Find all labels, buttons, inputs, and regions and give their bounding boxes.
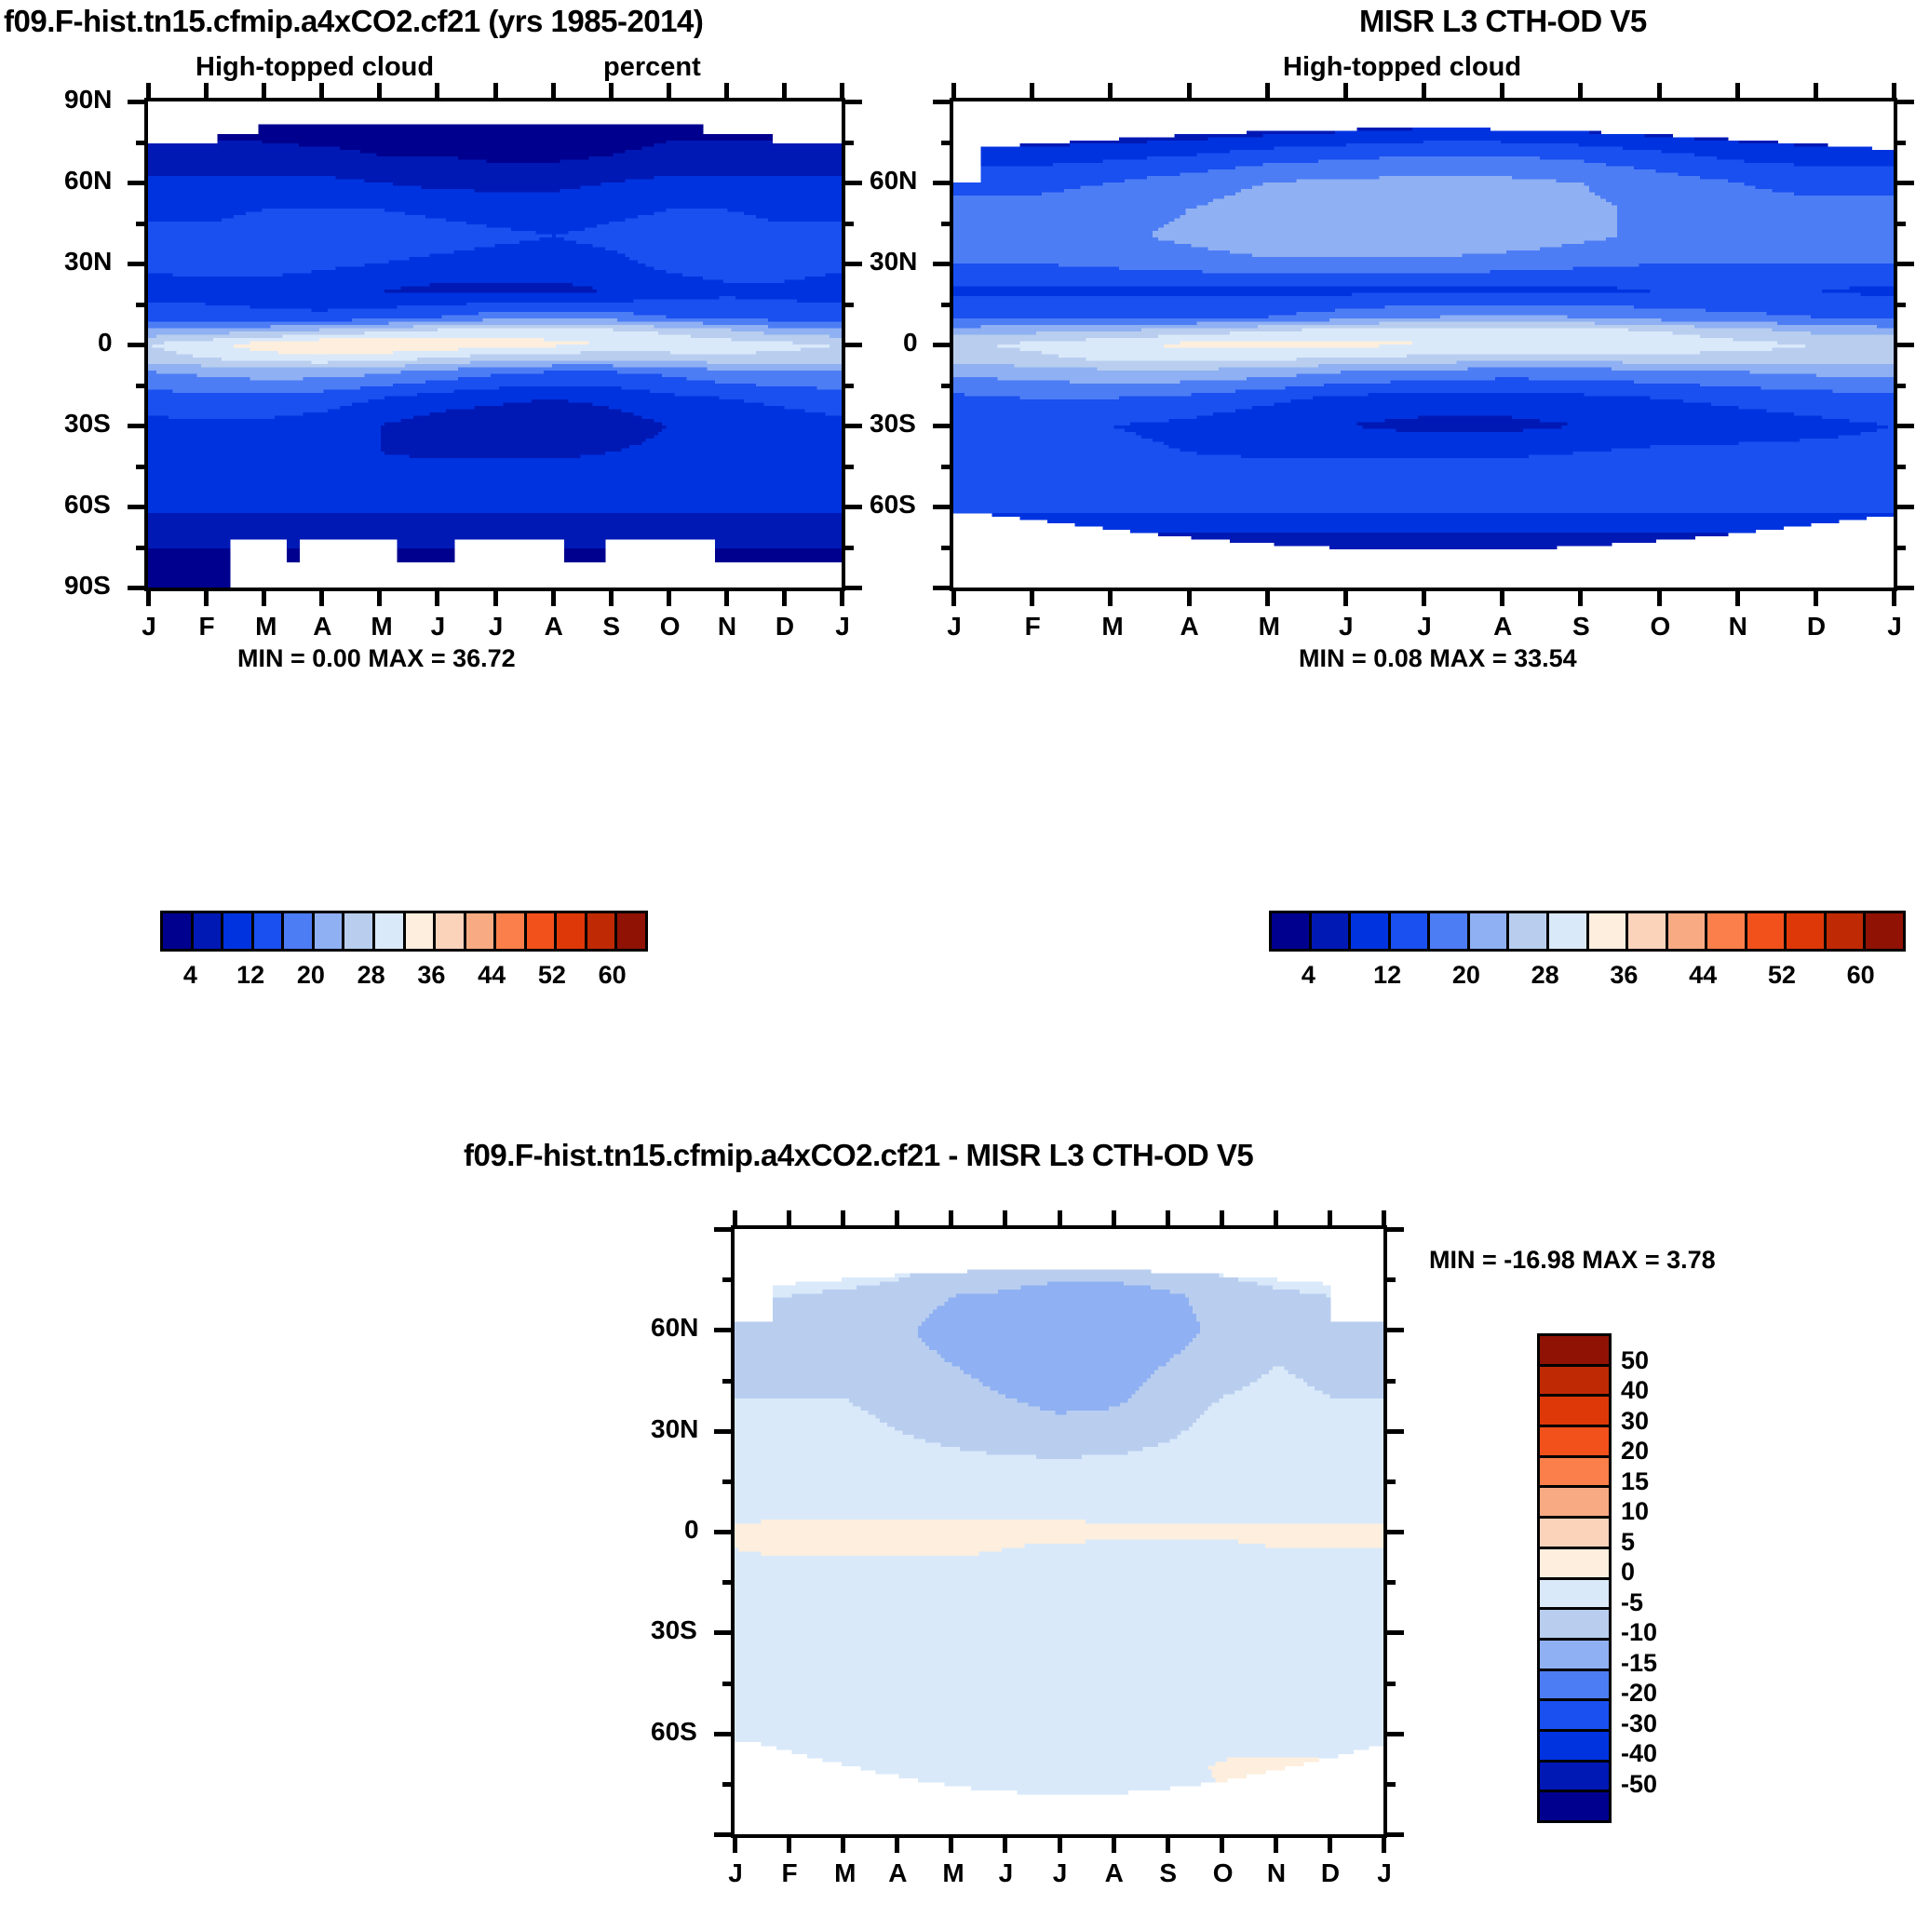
x-tick-bottom	[435, 588, 439, 606]
colorbar-tick-label: -10	[1621, 1618, 1686, 1647]
x-tick-top	[840, 83, 844, 101]
x-axis-tick-label: J	[1375, 1858, 1394, 1888]
x-tick-top	[733, 1210, 737, 1229]
colorbar-cell	[375, 913, 406, 949]
colorbar-tick-label: 60	[1841, 961, 1882, 990]
colorbar-cell	[1540, 1580, 1609, 1611]
colorbar-cell	[315, 913, 345, 949]
x-tick-top	[724, 83, 729, 101]
x-tick-top	[1735, 83, 1740, 101]
x-tick-top	[1058, 1210, 1062, 1229]
x-tick-top	[319, 83, 324, 101]
y-tick-right	[1894, 262, 1914, 266]
y-axis-tick-label: 60S	[64, 490, 111, 520]
colorbar-tick-label: 5	[1621, 1528, 1686, 1557]
diff-panel-plot-frame	[731, 1225, 1387, 1838]
y-tick	[933, 424, 953, 428]
y-tick-right	[1894, 141, 1906, 145]
colorbar-cell	[436, 913, 466, 949]
y-tick-right	[1383, 1832, 1404, 1837]
x-tick-top	[949, 1210, 953, 1229]
colorbar-cell	[1827, 913, 1867, 949]
x-axis-tick-label: A	[1105, 1858, 1124, 1888]
x-tick-top	[1578, 83, 1583, 101]
x-axis-tick-label: J	[833, 612, 852, 642]
x-axis-tick-label: A	[545, 612, 563, 642]
y-tick-right	[1383, 1682, 1396, 1686]
x-tick-top	[1108, 83, 1113, 101]
colorbar-cell	[1707, 913, 1747, 949]
colorbar-cell	[1540, 1763, 1609, 1793]
colorbar-tick-label: 12	[1367, 961, 1408, 990]
colorbar-cell	[254, 913, 285, 949]
colorbar-cell	[496, 913, 527, 949]
y-tick-right	[1894, 303, 1906, 307]
x-tick-bottom	[1187, 588, 1192, 606]
x-tick-top	[1112, 1210, 1116, 1229]
y-tick-right	[842, 181, 862, 185]
y-axis-tick-label: 60N	[651, 1313, 698, 1343]
colorbar-cell	[1747, 913, 1787, 949]
colorbar-cell	[1540, 1792, 1609, 1820]
colorbar-cell	[1540, 1336, 1609, 1367]
colorbar-tick-label: -15	[1621, 1649, 1686, 1678]
colorbar-tick-label: 44	[471, 961, 512, 990]
y-tick-right	[842, 424, 862, 428]
x-axis-tick-label: J	[140, 612, 158, 642]
x-axis-tick-label: M	[834, 1858, 853, 1888]
colorbar-tick-label: -50	[1621, 1770, 1686, 1799]
y-tick-right	[1894, 222, 1906, 226]
x-tick-top	[1422, 83, 1426, 101]
colorbar-cell	[527, 913, 558, 949]
colorbar-cell	[406, 913, 437, 949]
y-axis-tick-label: 30N	[870, 247, 917, 277]
colorbar-cell	[1549, 913, 1589, 949]
x-tick-top	[377, 83, 382, 101]
y-axis-tick-label: 60N	[870, 166, 917, 196]
colorbar-tick-label: 44	[1682, 961, 1723, 990]
colorbar-cell	[223, 913, 254, 949]
right-panel-contour-canvas	[953, 101, 1894, 588]
y-axis-tick-label: 30N	[64, 247, 112, 277]
x-tick-bottom	[1003, 1834, 1007, 1853]
x-tick-top	[1030, 83, 1034, 101]
y-tick	[136, 222, 148, 226]
x-tick-top	[146, 83, 151, 101]
x-tick-top	[1220, 1210, 1224, 1229]
x-axis-tick-label: N	[718, 612, 736, 642]
y-axis-tick-label: 30S	[870, 409, 916, 439]
y-tick-right	[1894, 505, 1914, 509]
x-tick-top	[1814, 83, 1818, 101]
x-tick-top	[609, 83, 614, 101]
left-panel-contour-canvas	[148, 101, 842, 588]
y-tick	[714, 1530, 735, 1534]
y-axis-tick-label: 30N	[651, 1414, 698, 1444]
y-tick-right	[1383, 1732, 1404, 1736]
x-tick-bottom	[667, 588, 671, 606]
x-tick-bottom	[951, 588, 956, 606]
colorbar-cell	[344, 913, 375, 949]
y-tick	[722, 1682, 735, 1686]
colorbar-cell	[1312, 913, 1352, 949]
x-tick-bottom	[1220, 1834, 1224, 1853]
y-tick-right	[1894, 181, 1914, 185]
x-axis-tick-label: D	[776, 612, 794, 642]
y-tick-right	[1894, 586, 1914, 590]
y-tick-right	[1383, 1277, 1396, 1282]
x-axis-tick-label: F	[1023, 612, 1042, 642]
y-tick	[722, 1277, 735, 1282]
x-tick-bottom	[319, 588, 324, 606]
colorbar-cell	[1272, 913, 1312, 949]
colorbar-cell	[1540, 1701, 1609, 1732]
y-tick	[128, 100, 148, 104]
colorbar-tick-label: 0	[1621, 1558, 1686, 1587]
colorbar-tick-label: 52	[1761, 961, 1802, 990]
x-tick-bottom	[146, 588, 151, 606]
y-tick-right	[842, 343, 862, 347]
left-panel-colorbar	[160, 911, 648, 952]
colorbar-cell	[163, 913, 194, 949]
x-tick-bottom	[1382, 1834, 1386, 1853]
y-tick-right	[842, 465, 854, 469]
x-axis-tick-label: F	[197, 612, 216, 642]
x-tick-top	[951, 83, 956, 101]
y-tick	[933, 505, 953, 509]
y-axis-tick-label: 60S	[651, 1717, 697, 1747]
x-tick-top	[1382, 1210, 1386, 1229]
y-tick	[136, 546, 148, 550]
x-axis-tick-label: S	[1159, 1858, 1178, 1888]
left-panel-plot-frame	[144, 98, 845, 591]
y-tick-right	[1894, 343, 1914, 347]
y-tick	[136, 465, 148, 469]
y-axis-tick-label: 90N	[64, 85, 112, 115]
x-axis-tick-label: M	[255, 612, 274, 642]
y-tick-right	[1894, 424, 1914, 428]
y-tick-right	[842, 505, 862, 509]
colorbar-tick-label: -30	[1621, 1709, 1686, 1738]
colorbar-tick-label: 50	[1621, 1346, 1686, 1375]
x-tick-bottom	[1814, 588, 1818, 606]
y-axis-tick-label: 30S	[651, 1615, 697, 1645]
x-tick-bottom	[1422, 588, 1426, 606]
y-tick-right	[842, 222, 854, 226]
colorbar-cell	[1351, 913, 1391, 949]
x-tick-top	[1274, 1210, 1278, 1229]
x-tick-top	[493, 83, 498, 101]
x-axis-tick-label: J	[1885, 612, 1904, 642]
colorbar-cell	[1391, 913, 1431, 949]
colorbar-tick-label: 4	[169, 961, 210, 990]
y-tick-right	[842, 141, 854, 145]
y-tick	[136, 303, 148, 307]
x-axis-tick-label: J	[945, 612, 964, 642]
right-panel-subtitle-field: High-topped cloud	[1283, 52, 1521, 83]
x-tick-top	[1265, 83, 1270, 101]
x-tick-bottom	[1500, 588, 1504, 606]
y-tick	[722, 1782, 735, 1787]
colorbar-cell	[1430, 913, 1470, 949]
x-tick-top	[841, 1210, 845, 1229]
y-tick	[941, 222, 953, 226]
x-tick-bottom	[1166, 1834, 1170, 1853]
x-tick-bottom	[787, 1834, 791, 1853]
x-tick-bottom	[204, 588, 209, 606]
x-axis-tick-label: S	[1572, 612, 1590, 642]
colorbar-cell	[1540, 1519, 1609, 1549]
x-axis-tick-label: A	[888, 1858, 907, 1888]
y-tick	[933, 100, 953, 104]
colorbar-cell	[1540, 1458, 1609, 1489]
colorbar-cell	[1540, 1610, 1609, 1641]
right-panel-colorbar	[1269, 911, 1906, 952]
colorbar-tick-label: 20	[1446, 961, 1487, 990]
left-panel-minmax: MIN = 0.00 MAX = 36.72	[237, 644, 516, 673]
y-tick-right	[842, 100, 862, 104]
y-tick	[722, 1580, 735, 1585]
y-tick	[941, 141, 953, 145]
x-tick-bottom	[1108, 588, 1113, 606]
colorbar-cell	[617, 913, 645, 949]
x-tick-top	[782, 83, 787, 101]
y-tick	[941, 465, 953, 469]
x-tick-top	[1892, 83, 1896, 101]
colorbar-cell	[1470, 913, 1510, 949]
x-tick-bottom	[840, 588, 844, 606]
x-tick-bottom	[1274, 1834, 1278, 1853]
diff-panel-minmax: MIN = -16.98 MAX = 3.78	[1429, 1246, 1716, 1275]
y-tick	[136, 141, 148, 145]
colorbar-cell	[1668, 913, 1708, 949]
y-tick	[722, 1479, 735, 1484]
colorbar-cell	[466, 913, 497, 949]
right-panel-title: MISR L3 CTH-OD V5	[1359, 4, 1647, 39]
x-axis-tick-label: O	[660, 612, 679, 642]
x-tick-top	[1003, 1210, 1007, 1229]
x-tick-bottom	[782, 588, 787, 606]
y-tick-right	[842, 303, 854, 307]
x-tick-bottom	[949, 1834, 953, 1853]
y-tick-right	[1383, 1479, 1396, 1484]
right-panel-plot-frame	[950, 98, 1897, 591]
x-tick-bottom	[493, 588, 498, 606]
x-tick-bottom	[377, 588, 382, 606]
x-tick-top	[262, 83, 266, 101]
x-tick-bottom	[1735, 588, 1740, 606]
y-tick	[941, 546, 953, 550]
colorbar-cell	[1628, 913, 1668, 949]
x-axis-tick-label: J	[996, 1858, 1015, 1888]
x-tick-bottom	[1892, 588, 1896, 606]
x-tick-top	[435, 83, 439, 101]
y-tick	[933, 343, 953, 347]
colorbar-tick-label: -5	[1621, 1588, 1686, 1617]
y-tick	[714, 1732, 735, 1736]
colorbar-tick-label: 36	[411, 961, 452, 990]
colorbar-cell	[1787, 913, 1827, 949]
diff-panel-colorbar	[1537, 1333, 1612, 1823]
diff-panel-title: f09.F-hist.tn15.cfmip.a4xCO2.cf21 - MISR…	[464, 1138, 1253, 1173]
x-tick-top	[1500, 83, 1504, 101]
colorbar-cell	[194, 913, 224, 949]
x-tick-top	[1187, 83, 1192, 101]
y-tick-right	[1383, 1379, 1396, 1384]
colorbar-cell	[284, 913, 315, 949]
y-tick	[128, 424, 148, 428]
x-axis-tick-label: A	[1493, 612, 1512, 642]
y-tick-right	[842, 586, 862, 590]
colorbar-cell	[1540, 1549, 1609, 1580]
y-tick	[714, 1328, 735, 1332]
y-tick-right	[842, 546, 854, 550]
colorbar-tick-label: 4	[1288, 961, 1329, 990]
diff-panel-contour-canvas	[735, 1229, 1383, 1834]
x-axis-tick-label: M	[942, 1858, 961, 1888]
x-tick-bottom	[1578, 588, 1583, 606]
x-axis-tick-label: D	[1321, 1858, 1340, 1888]
colorbar-tick-label: -20	[1621, 1679, 1686, 1708]
x-tick-bottom	[733, 1834, 737, 1853]
y-axis-tick-label: 0	[903, 328, 918, 358]
colorbar-cell	[1540, 1641, 1609, 1671]
y-tick-right	[1894, 465, 1906, 469]
x-tick-top	[895, 1210, 899, 1229]
colorbar-tick-label: 40	[1621, 1376, 1686, 1405]
colorbar-tick-label: 52	[532, 961, 573, 990]
y-tick	[941, 384, 953, 388]
y-tick-right	[1894, 100, 1914, 104]
x-tick-top	[1166, 1210, 1170, 1229]
x-axis-tick-label: J	[1415, 612, 1434, 642]
colorbar-tick-label: 30	[1621, 1407, 1686, 1436]
y-tick	[128, 343, 148, 347]
x-tick-bottom	[895, 1834, 899, 1853]
colorbar-tick-label: 15	[1621, 1467, 1686, 1496]
y-tick	[714, 1227, 735, 1232]
x-axis-tick-label: F	[780, 1858, 799, 1888]
x-tick-bottom	[262, 588, 266, 606]
y-tick-right	[1383, 1630, 1404, 1635]
x-tick-top	[1657, 83, 1662, 101]
colorbar-tick-label: 10	[1621, 1497, 1686, 1526]
x-tick-bottom	[1058, 1834, 1062, 1853]
y-axis-tick-label: 60S	[870, 490, 916, 520]
x-axis-tick-label: A	[1180, 612, 1199, 642]
colorbar-cell	[1540, 1488, 1609, 1519]
left-panel-subtitle-field: High-topped cloud	[196, 52, 434, 83]
y-tick	[128, 262, 148, 266]
colorbar-cell	[587, 913, 618, 949]
x-tick-bottom	[1657, 588, 1662, 606]
y-tick-right	[1894, 384, 1906, 388]
x-tick-bottom	[609, 588, 614, 606]
y-axis-tick-label: 90S	[64, 571, 111, 601]
y-tick	[128, 181, 148, 185]
x-axis-tick-label: N	[1267, 1858, 1286, 1888]
y-tick-right	[1383, 1782, 1396, 1787]
x-axis-tick-label: M	[371, 612, 389, 642]
y-tick-right	[1383, 1530, 1404, 1534]
colorbar-cell	[1540, 1732, 1609, 1763]
x-tick-top	[1343, 83, 1348, 101]
y-tick	[714, 1630, 735, 1635]
x-axis-tick-label: J	[1051, 1858, 1070, 1888]
x-axis-tick-label: O	[1651, 612, 1669, 642]
y-tick	[128, 586, 148, 590]
colorbar-cell	[1540, 1671, 1609, 1702]
y-tick	[933, 586, 953, 590]
y-axis-tick-label: 60N	[64, 166, 112, 196]
colorbar-tick-label: 20	[1621, 1437, 1686, 1466]
x-tick-bottom	[1328, 1834, 1332, 1853]
left-panel-title: f09.F-hist.tn15.cfmip.a4xCO2.cf21 (yrs 1…	[4, 4, 703, 39]
y-tick-right	[842, 384, 854, 388]
colorbar-cell	[557, 913, 587, 949]
x-axis-tick-label: J	[428, 612, 447, 642]
y-tick	[722, 1379, 735, 1384]
y-tick	[136, 384, 148, 388]
x-axis-tick-label: A	[313, 612, 331, 642]
x-axis-tick-label: J	[1337, 612, 1356, 642]
colorbar-tick-label: 36	[1603, 961, 1644, 990]
y-tick	[128, 505, 148, 509]
y-tick	[933, 181, 953, 185]
x-tick-bottom	[1030, 588, 1034, 606]
x-tick-bottom	[551, 588, 556, 606]
x-axis-tick-label: O	[1213, 1858, 1232, 1888]
colorbar-tick-label: 12	[230, 961, 271, 990]
y-tick	[714, 1832, 735, 1837]
x-tick-bottom	[841, 1834, 845, 1853]
y-tick	[714, 1429, 735, 1434]
x-tick-top	[667, 83, 671, 101]
x-axis-tick-label: J	[726, 1858, 745, 1888]
y-tick-right	[1383, 1580, 1396, 1585]
left-panel-units-label: percent	[603, 52, 701, 83]
colorbar-cell	[1509, 913, 1549, 949]
x-axis-tick-label: M	[1101, 612, 1120, 642]
x-tick-top	[551, 83, 556, 101]
colorbar-tick-label: -40	[1621, 1739, 1686, 1768]
colorbar-cell	[1540, 1397, 1609, 1427]
right-panel-minmax: MIN = 0.08 MAX = 33.54	[1299, 644, 1577, 673]
colorbar-tick-label: 20	[290, 961, 331, 990]
colorbar-cell	[1540, 1427, 1609, 1458]
x-axis-tick-label: J	[487, 612, 506, 642]
y-tick	[933, 262, 953, 266]
x-tick-top	[787, 1210, 791, 1229]
x-tick-top	[1328, 1210, 1332, 1229]
colorbar-cell	[1866, 913, 1903, 949]
x-tick-bottom	[1265, 588, 1270, 606]
x-tick-top	[204, 83, 209, 101]
x-tick-bottom	[1112, 1834, 1116, 1853]
y-axis-tick-label: 0	[98, 328, 113, 358]
colorbar-tick-label: 28	[351, 961, 392, 990]
colorbar-cell	[1589, 913, 1629, 949]
y-axis-tick-label: 30S	[64, 409, 111, 439]
y-tick-right	[1383, 1328, 1404, 1332]
y-tick-right	[1383, 1227, 1404, 1232]
colorbar-tick-label: 28	[1525, 961, 1566, 990]
x-tick-bottom	[1343, 588, 1348, 606]
x-tick-bottom	[724, 588, 729, 606]
y-tick-right	[842, 262, 862, 266]
x-axis-tick-label: N	[1729, 612, 1747, 642]
